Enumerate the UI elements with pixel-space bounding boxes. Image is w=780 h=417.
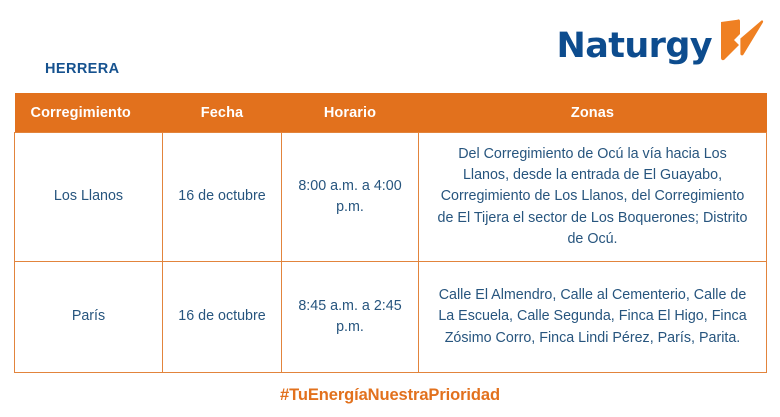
naturgy-butterfly-mark bbox=[718, 18, 764, 68]
cell-fecha: 16 de octubre bbox=[163, 262, 282, 373]
table-header-row: Corregimiento Fecha Horario Zonas bbox=[15, 93, 767, 133]
table-header: Corregimiento Fecha Horario Zonas bbox=[15, 93, 767, 133]
province-title: HERRERA bbox=[45, 61, 120, 77]
cell-zonas: Del Corregimiento de Ocú la vía hacia Lo… bbox=[419, 133, 767, 262]
cell-horario: 8:00 a.m. a 4:00 p.m. bbox=[282, 133, 419, 262]
table-row: París 16 de octubre 8:45 a.m. a 2:45 p.m… bbox=[15, 262, 767, 373]
column-header-fecha: Fecha bbox=[163, 93, 282, 133]
naturgy-logo: Naturgy bbox=[557, 18, 765, 74]
column-header-horario: Horario bbox=[282, 93, 419, 133]
cell-corregimiento: Los Llanos bbox=[15, 133, 163, 262]
naturgy-wordmark: Naturgy bbox=[557, 29, 713, 64]
cell-corregimiento: París bbox=[15, 262, 163, 373]
campaign-hashtag: #TuEnergíaNuestraPrioridad bbox=[0, 386, 780, 405]
schedule-table: Corregimiento Fecha Horario Zonas Los Ll… bbox=[14, 93, 767, 373]
cell-zonas: Calle El Almendro, Calle al Cementerio, … bbox=[419, 262, 767, 373]
table-body: Los Llanos 16 de octubre 8:00 a.m. a 4:0… bbox=[15, 133, 767, 373]
column-header-zonas: Zonas bbox=[419, 93, 767, 133]
cell-horario: 8:45 a.m. a 2:45 p.m. bbox=[282, 262, 419, 373]
schedule-table-container: Corregimiento Fecha Horario Zonas Los Ll… bbox=[14, 93, 766, 373]
column-header-corregimiento: Corregimiento bbox=[15, 93, 163, 133]
notice-page: Naturgy HERRERA Corregimiento Fecha Hora… bbox=[0, 0, 780, 417]
table-row: Los Llanos 16 de octubre 8:00 a.m. a 4:0… bbox=[15, 133, 767, 262]
cell-fecha: 16 de octubre bbox=[163, 133, 282, 262]
